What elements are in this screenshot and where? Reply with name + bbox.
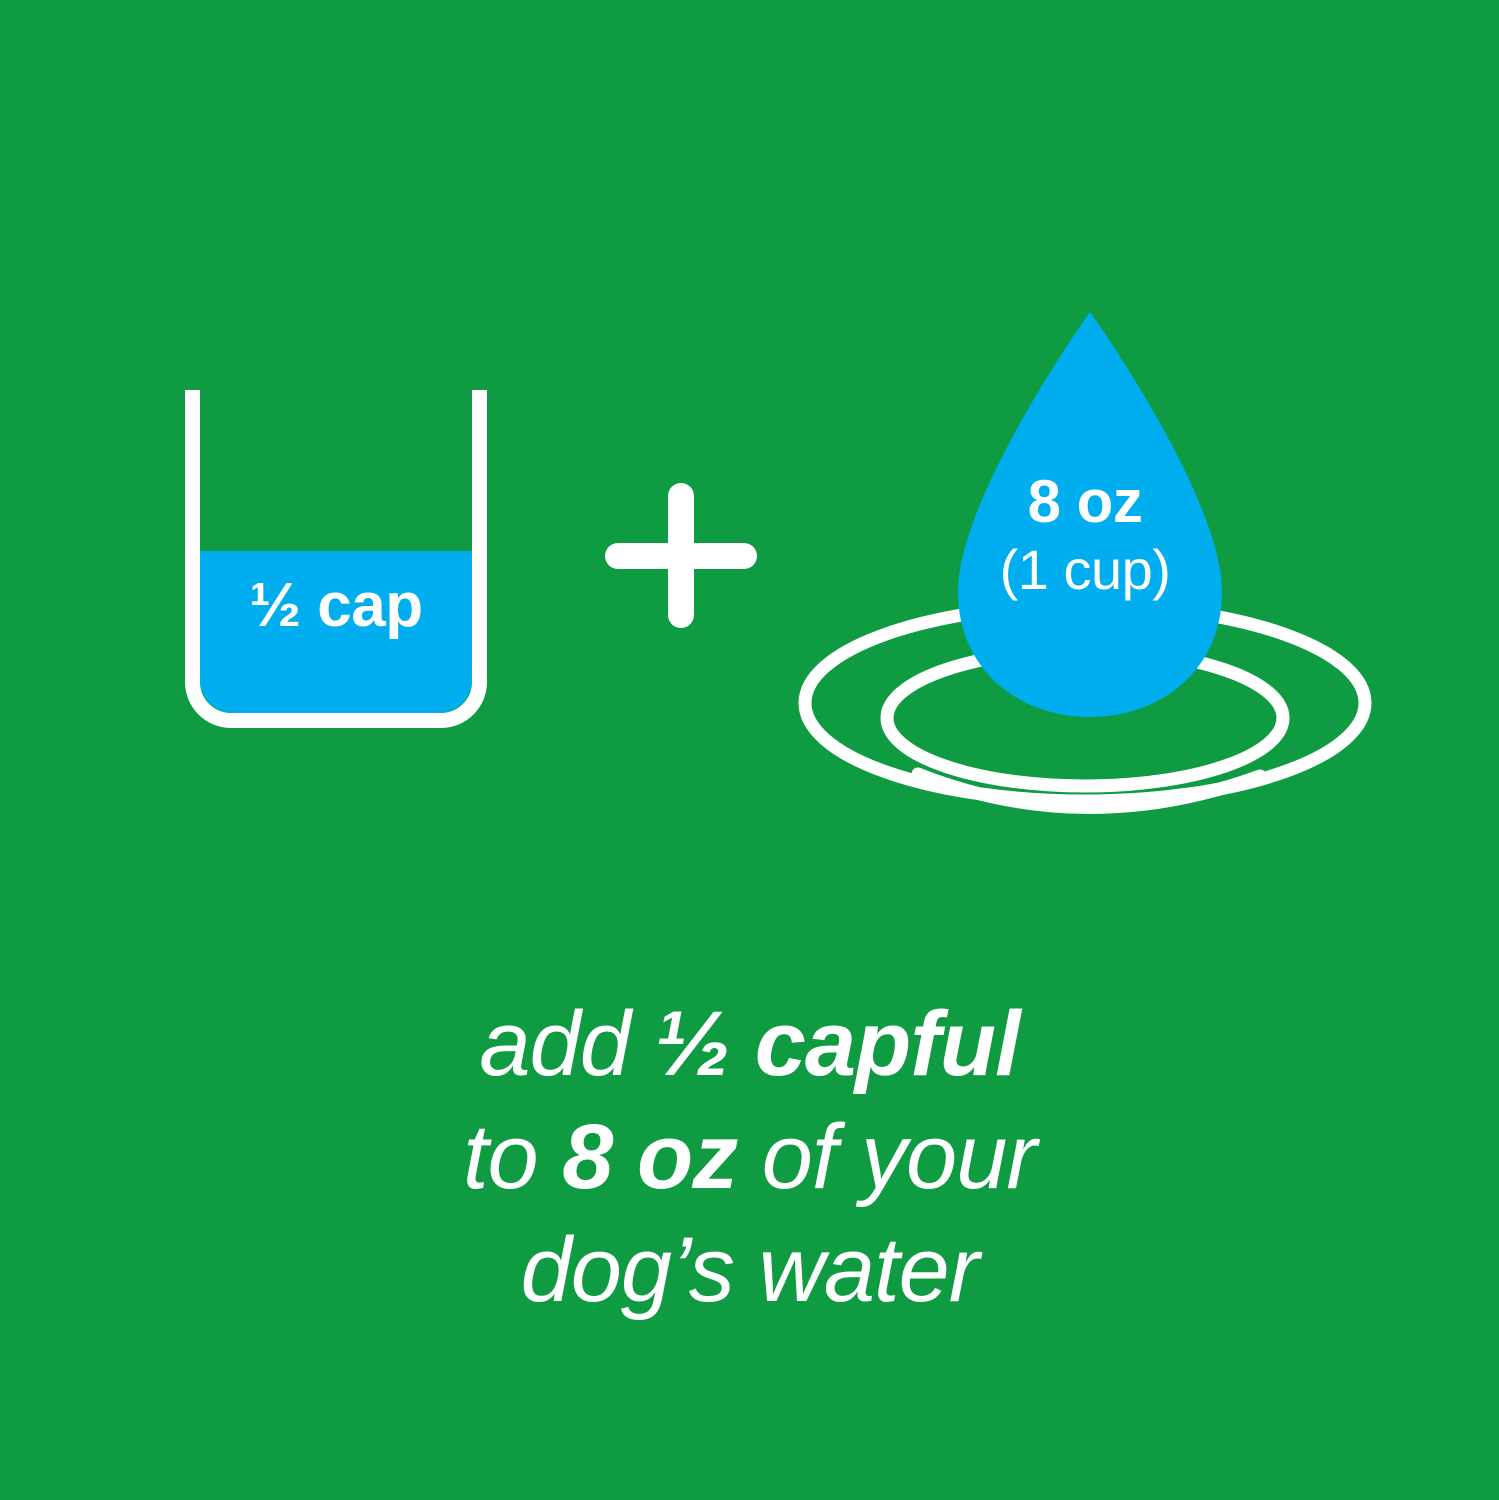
cap-label: ½ cap bbox=[185, 575, 487, 637]
caption-line-2-part-1: to bbox=[463, 1106, 562, 1208]
instruction-poster: ½ cap 8 oz (1 cup) add ½ capful to 8 oz … bbox=[0, 0, 1499, 1500]
cap-rim-left bbox=[185, 390, 200, 406]
water-drop-body bbox=[958, 312, 1222, 717]
plus-icon bbox=[605, 483, 757, 628]
caption-line-1-part-2: ½ capful bbox=[654, 993, 1019, 1095]
water-drop-icon: 8 oz (1 cup) bbox=[790, 300, 1380, 820]
caption-line-1-part-1: add bbox=[479, 993, 654, 1095]
cap-label-spacer bbox=[301, 571, 318, 640]
instruction-caption: add ½ capful to 8 oz of your dog’s water bbox=[0, 988, 1499, 1327]
caption-line-2-part-2: 8 oz bbox=[562, 1106, 737, 1208]
measuring-cap-icon: ½ cap bbox=[185, 390, 487, 728]
caption-line-2-part-3: of your bbox=[737, 1106, 1036, 1208]
cap-rim-right bbox=[472, 390, 487, 406]
caption-line-3: dog’s water bbox=[0, 1214, 1499, 1327]
caption-line-2: to 8 oz of your bbox=[0, 1101, 1499, 1214]
cap-label-fraction: ½ bbox=[249, 571, 300, 640]
cap-label-unit: cap bbox=[317, 571, 422, 640]
caption-line-3-text: dog’s water bbox=[521, 1219, 979, 1321]
plus-icon-horizontal-bar bbox=[605, 543, 757, 569]
caption-line-1: add ½ capful bbox=[0, 988, 1499, 1101]
water-drop-shape bbox=[790, 300, 1380, 820]
